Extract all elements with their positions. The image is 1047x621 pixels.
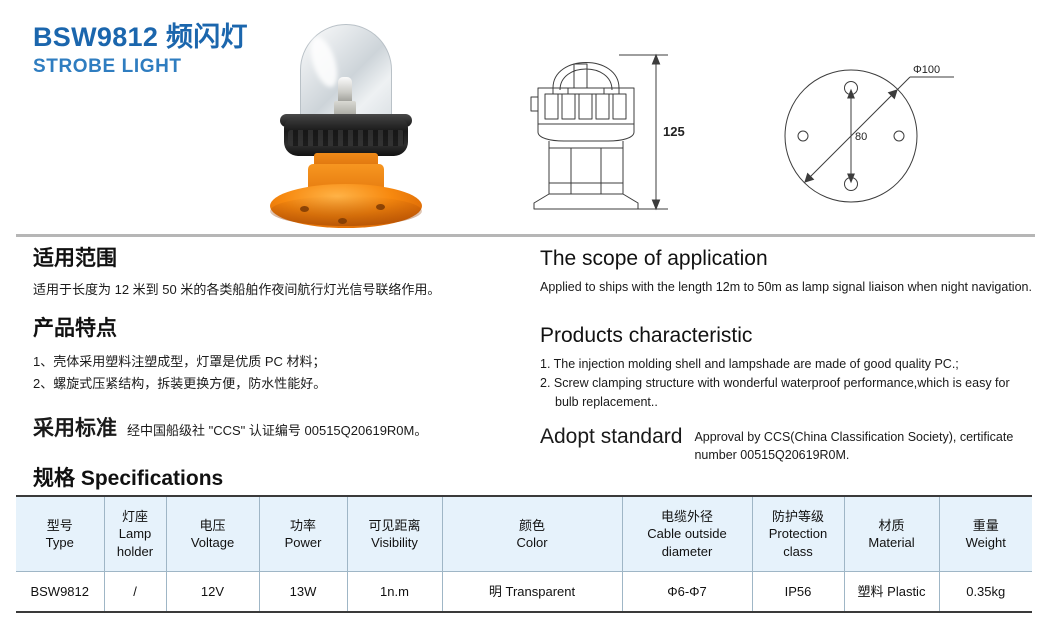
characteristic-item-cn: 1、壳体采用塑料注塑成型，灯罩是优质 PC 材料； [33, 351, 533, 374]
characteristics-heading-cn: 产品特点 [33, 316, 533, 341]
cell-color: 明 Transparent [442, 572, 622, 613]
cell-type: BSW9812 [16, 572, 104, 613]
characteristics-list-cn: 1、壳体采用塑料注塑成型，灯罩是优质 PC 材料； 2、螺旋式压紧结构，拆装更换… [33, 351, 533, 397]
characteristic-item-en: 1. The injection molding shell and lamps… [540, 355, 1035, 374]
spacer [540, 297, 1035, 323]
standard-row-cn: 采用标准 经中国船级社 "CCS" 认证编号 00515Q20619R0M。 [33, 412, 533, 442]
column-header-voltage: 电压 Voltage [166, 496, 259, 572]
mounting-hole-right [894, 131, 904, 141]
english-column: The scope of application Applied to ship… [540, 246, 1035, 465]
specifications-table: 型号 Type 灯座 Lamp holder 电压 Voltage 功率 Pow… [16, 495, 1032, 613]
specifications-heading: 规格 Specifications [33, 462, 223, 492]
hero-section: BSW9812 频闪灯 STROBE LIGHT [0, 0, 1047, 228]
cell-lamp-holder: / [104, 572, 166, 613]
base-mounting-hole [300, 206, 309, 212]
spacer [33, 300, 533, 316]
column-header-power: 功率 Power [259, 496, 347, 572]
table-row: BSW9812 / 12V 13W 1n.m 明 Transparent Φ6-… [16, 572, 1032, 613]
standard-body-cn: 经中国船级社 "CCS" 认证编号 00515Q20619R0M。 [127, 422, 427, 440]
chinese-column: 适用范围 适用于长度为 12 米到 50 米的各类船舶作夜间航行灯光信号联络作用… [33, 246, 533, 442]
spacer [33, 396, 533, 412]
section-divider [16, 234, 1035, 237]
column-header-weight: 重量 Weight [939, 496, 1032, 572]
cell-visibility: 1n.m [347, 572, 442, 613]
cell-cable-diameter: Φ6-Φ7 [622, 572, 752, 613]
cell-weight: 0.35kg [939, 572, 1032, 613]
top-view-bolt-circle-label: 80 [855, 131, 867, 143]
standard-heading-en: Adopt standard [540, 425, 682, 448]
standard-row-en: Adopt standard Approval by CCS(China Cla… [540, 425, 1035, 465]
column-header-visibility: 可见距离 Visibility [347, 496, 442, 572]
scope-heading-en: The scope of application [540, 246, 1035, 271]
column-header-type: 型号 Type [16, 496, 104, 572]
base-mounting-hole [338, 218, 347, 224]
scope-heading-cn: 适用范围 [33, 246, 533, 271]
column-header-material: 材质 Material [844, 496, 939, 572]
table-header-row: 型号 Type 灯座 Lamp holder 电压 Voltage 功率 Pow… [16, 496, 1032, 572]
product-collar-ridges [288, 130, 404, 146]
characteristics-list-en: 1. The injection molding shell and lamps… [540, 355, 1035, 411]
standard-heading-cn: 采用标准 [33, 412, 117, 442]
characteristic-item-cn: 2、螺旋式压紧结构，拆装更换方便，防水性能好。 [33, 373, 533, 396]
mounting-hole-left [798, 131, 808, 141]
characteristics-heading-en: Products characteristic [540, 323, 1035, 348]
column-header-lamp-holder: 灯座 Lamp holder [104, 496, 166, 572]
standard-body-en: Approval by CCS(China Classification Soc… [694, 425, 1035, 465]
cell-protection-class: IP56 [752, 572, 844, 613]
scope-body-en: Applied to ships with the length 12m to … [540, 278, 1035, 297]
side-view-height-label: 125 [663, 124, 685, 139]
top-view-drawing: 80 Φ100 [758, 36, 968, 226]
table-header: 型号 Type 灯座 Lamp holder 电压 Voltage 功率 Pow… [16, 496, 1032, 572]
column-header-protection-class: 防护等级 Protection class [752, 496, 844, 572]
base-mounting-hole [376, 204, 385, 210]
product-bulb [338, 77, 352, 103]
cell-power: 13W [259, 572, 347, 613]
cell-voltage: 12V [166, 572, 259, 613]
side-elevation-drawing: 125 [516, 28, 716, 228]
characteristic-item-en: 2. Screw clamping structure with wonderf… [540, 374, 1035, 412]
cell-material: 塑料 Plastic [844, 572, 939, 613]
column-header-color: 颜色 Color [442, 496, 622, 572]
page-title: BSW9812 频闪灯 [33, 22, 248, 53]
page-subtitle: STROBE LIGHT [33, 55, 248, 80]
table-body: BSW9812 / 12V 13W 1n.m 明 Transparent Φ6-… [16, 572, 1032, 613]
title-block: BSW9812 频闪灯 STROBE LIGHT [33, 22, 248, 80]
spacer [540, 411, 1035, 425]
product-photo [258, 22, 433, 227]
column-header-cable-diameter: 电缆外径 Cable outside diameter [622, 496, 752, 572]
top-view-diameter-label: Φ100 [913, 64, 940, 76]
scope-body-cn: 适用于长度为 12 米到 50 米的各类船舶作夜间航行灯光信号联络作用。 [33, 280, 533, 300]
